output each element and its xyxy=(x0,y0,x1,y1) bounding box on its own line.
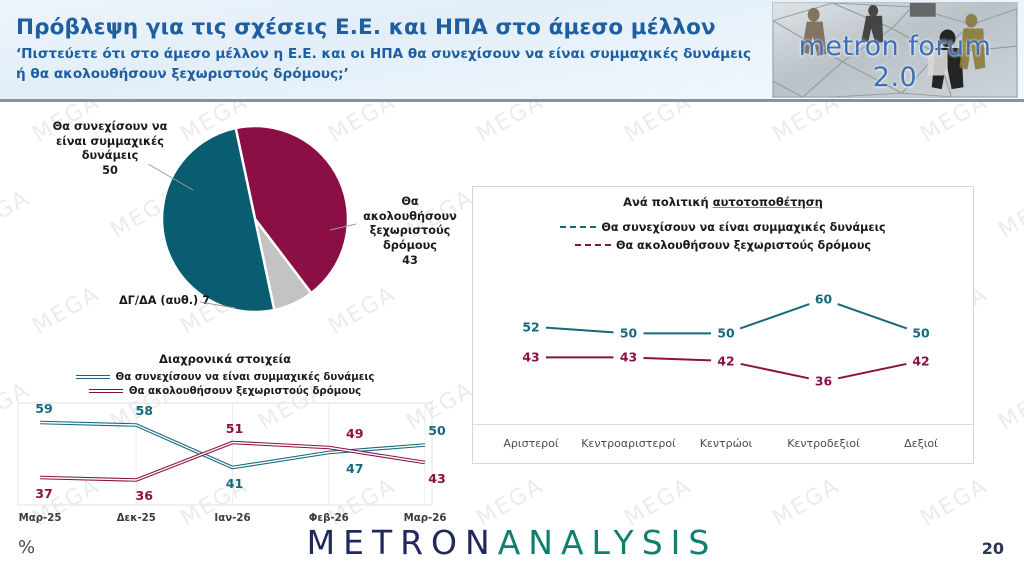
pie-label-dontknow: ΔΓ/ΔΑ (αυθ.) 7 xyxy=(50,294,210,309)
watermark-text: MEGA xyxy=(699,569,775,576)
pie-label-line: ξεχωριστούς xyxy=(360,224,460,239)
political-chart-title: Ανά πολιτική αυτοτοποθέτηση xyxy=(473,195,973,209)
political-data-label: 36 xyxy=(815,374,832,389)
political-data-label: 42 xyxy=(717,353,734,368)
timeline-legend-label-alliance: Θα συνεχίσουν να είναι συμμαχικές δυνάμε… xyxy=(116,372,375,383)
timeline-data-label: 47 xyxy=(346,461,364,476)
political-legend-label-alliance: Θα συνεχίσουν να είναι συμμαχικές δυνάμε… xyxy=(601,221,885,234)
pie-label-separate: Θαακολουθήσουνξεχωριστούςδρόμους43 xyxy=(360,195,460,268)
political-series-segment xyxy=(838,304,907,328)
political-chart-title-emphasis: αυτοτοποθέτηση xyxy=(713,195,823,209)
political-x-label: Κεντροαριστεροί xyxy=(581,437,676,450)
timeline-data-label: 51 xyxy=(226,421,244,436)
slide-root: MEGAMEGAMEGAMEGAMEGAMEGAMEGAMEGAMEGAMEGA… xyxy=(0,0,1024,576)
pie-label-line: δρόμους xyxy=(360,239,460,254)
political-data-label: 43 xyxy=(522,350,539,365)
logo-analysis-text: ANALYSIS xyxy=(498,523,718,562)
pie-chart-block: Θα συνεχίσουν ναείναι συμμαχικέςδυνάμεις… xyxy=(30,112,460,327)
timeline-data-label: 58 xyxy=(135,403,153,418)
political-x-label: Αριστεροί xyxy=(503,437,558,450)
political-data-label: 60 xyxy=(815,292,832,307)
political-series-segment xyxy=(740,304,809,328)
pie-label-line: 50 xyxy=(40,164,180,179)
pie-label-alliance: Θα συνεχίσουν ναείναι συμμαχικέςδυνάμεις… xyxy=(40,120,180,179)
watermark-text: MEGA xyxy=(551,569,627,576)
watermark-text: MEGA xyxy=(995,569,1024,576)
pie-label-line: ακολουθήσουν xyxy=(360,210,460,225)
political-series-segment xyxy=(741,364,809,378)
political-legend-label-separate: Θα ακολουθήσουν ξεχωριστούς δρόμους xyxy=(616,239,871,252)
pie-label-line: Θα συνεχίσουν να xyxy=(40,120,180,135)
pie-label-line: ΔΓ/ΔΑ (αυθ.) 7 xyxy=(50,294,210,309)
pie-label-line: είναι συμμαχικές xyxy=(40,135,180,150)
timeline-legend-label-separate: Θα ακολουθήσουν ξεχωριστούς δρόμους xyxy=(129,386,361,397)
political-legend-item-alliance: Θα συνεχίσουν να είναι συμμαχικές δυνάμε… xyxy=(473,218,973,236)
metron-forum-logo: metron forum 2.0 xyxy=(772,2,1018,98)
political-series-segment xyxy=(546,328,614,333)
political-series-segment xyxy=(643,358,711,360)
political-data-label: 50 xyxy=(912,326,929,341)
political-legend-item-separate: Θα ακολουθήσουν ξεχωριστούς δρόμους xyxy=(473,236,973,254)
legend-dashed-icon-crimson xyxy=(575,244,611,246)
page-subtitle: ‘Πιστεύετε ότι στο άμεσο μέλλον η Ε.Ε. κ… xyxy=(16,45,756,84)
timeline-data-label: 43 xyxy=(428,471,446,486)
timeline-data-label: 59 xyxy=(35,401,53,416)
timeline-data-label: 36 xyxy=(135,488,153,503)
watermark-text: MEGA xyxy=(995,377,1024,435)
timeline-data-label: 49 xyxy=(346,426,364,441)
political-breakdown-panel: Ανά πολιτική αυτοτοποθέτηση Θα συνεχίσου… xyxy=(472,186,974,464)
percent-unit-mark: % xyxy=(18,537,35,558)
timeline-chart-block: Διαχρονικά στοιχεία Θα συνεχίσουν να είν… xyxy=(10,352,440,530)
pie-label-line: 43 xyxy=(360,254,460,269)
legend-line-icon-crimson xyxy=(89,389,123,393)
page-title: Πρόβλεψη για τις σχέσεις Ε.Ε. και ΗΠΑ στ… xyxy=(16,16,756,40)
timeline-legend-item-alliance: Θα συνεχίσουν να είναι συμμαχικές δυνάμε… xyxy=(10,370,440,384)
watermark-text: MEGA xyxy=(403,569,479,576)
pie-label-line: Θα xyxy=(360,195,460,210)
political-data-label: 43 xyxy=(620,350,637,365)
timeline-chart-title: Διαχρονικά στοιχεία xyxy=(10,352,440,366)
political-chart-legend: Θα συνεχίσουν να είναι συμμαχικές δυνάμε… xyxy=(473,218,973,254)
political-data-label: 42 xyxy=(912,353,929,368)
timeline-plot-area: 59584147503736514943 xyxy=(10,401,440,509)
legend-dashed-icon-teal xyxy=(560,226,596,228)
pie-label-line: δυνάμεις xyxy=(40,149,180,164)
metron-analysis-logo: METRONANALYSIS xyxy=(0,523,1024,562)
political-data-label: 50 xyxy=(620,326,637,341)
timeline-legend-item-separate: Θα ακολουθήσουν ξεχωριστούς δρόμους xyxy=(10,384,440,398)
legend-line-icon-teal xyxy=(76,375,110,379)
logo-metron-text: METRON xyxy=(307,523,498,562)
political-lines xyxy=(473,262,973,422)
political-x-label: Δεξιοί xyxy=(904,437,938,450)
political-data-label: 52 xyxy=(522,319,539,334)
pie-chart xyxy=(160,122,350,317)
political-x-label: Κεντροδεξιοί xyxy=(787,437,860,450)
watermark-text: MEGA xyxy=(107,569,183,576)
political-x-axis: ΑριστεροίΚεντροαριστεροίΚεντρώοιΚεντροδε… xyxy=(473,424,973,464)
forum-logo-text: metron forum 2.0 xyxy=(773,31,1017,93)
watermark-text: MEGA xyxy=(255,569,331,576)
timeline-data-label: 37 xyxy=(35,486,53,501)
watermark-text: MEGA xyxy=(847,569,923,576)
watermark-text: MEGA xyxy=(995,185,1024,243)
political-series-segment xyxy=(838,364,906,378)
political-plot-area: 52505060504343423642 xyxy=(473,262,973,422)
watermark-text: MEGA xyxy=(0,569,34,576)
timeline-data-label: 50 xyxy=(428,423,446,438)
political-data-label: 50 xyxy=(717,326,734,341)
political-x-label: Κεντρώοι xyxy=(700,437,753,450)
timeline-data-label: 41 xyxy=(226,476,244,491)
page-number: 20 xyxy=(982,539,1004,558)
slide-header: Πρόβλεψη για τις σχέσεις Ε.Ε. και ΗΠΑ στ… xyxy=(0,0,1024,102)
timeline-lines xyxy=(10,401,440,509)
